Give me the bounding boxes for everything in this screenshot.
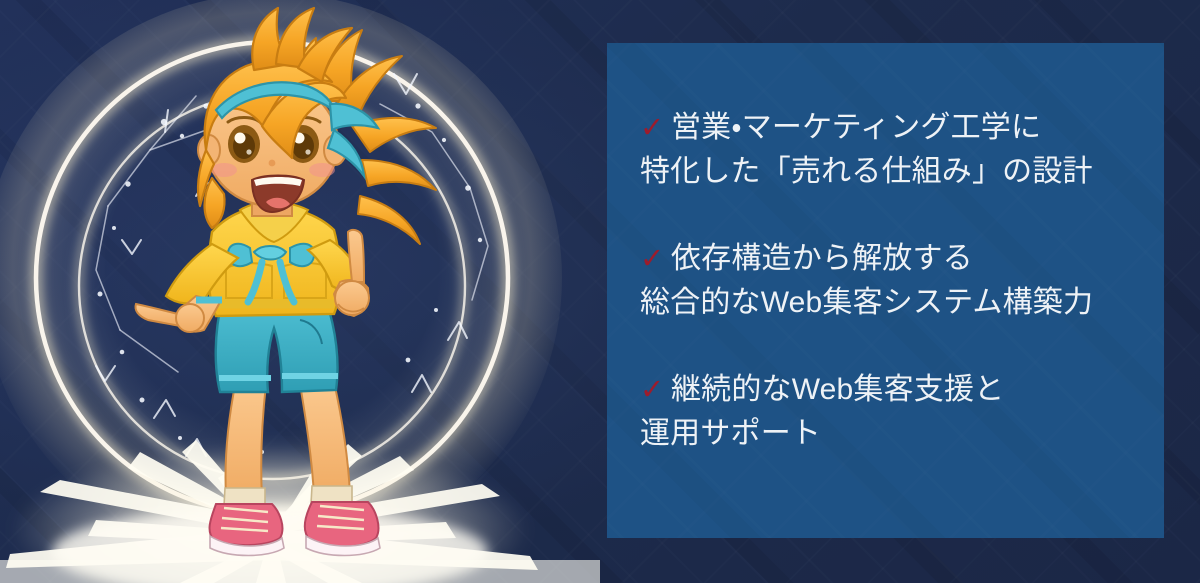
slide-root: ✓営業・マーケティング工学に 特化した「売れる仕組み」の設計 ✓依存構造から解放…	[0, 0, 1200, 583]
benefit-2-line-2: 総合的なWeb集客システム構築力	[640, 281, 1164, 325]
check-icon: ✓	[640, 114, 667, 143]
benefits-panel: ✓営業・マーケティング工学に 特化した「売れる仕組み」の設計 ✓依存構造から解放…	[607, 43, 1164, 538]
benefit-3-line-1: ✓継続的なWeb集客支援と	[640, 368, 1164, 412]
character-illustration-svg	[0, 0, 600, 583]
benefit-1-line-2: 特化した「売れる仕組み」の設計	[640, 150, 1164, 194]
benefit-2-text-1: 依存構造から解放する	[671, 242, 973, 275]
benefit-item-2: ✓依存構造から解放する 総合的なWeb集客システム構築力	[640, 237, 1164, 325]
benefit-1-line-1: ✓営業・マーケティング工学に	[640, 106, 1164, 150]
check-icon: ✓	[640, 376, 667, 405]
benefits-list: ✓営業・マーケティング工学に 特化した「売れる仕組み」の設計 ✓依存構造から解放…	[607, 43, 1164, 457]
character-illustration	[0, 0, 600, 583]
benefit-1-text-1: 営業・マーケティング工学に	[671, 111, 1041, 144]
benefit-3-line-2: 運用サポート	[640, 412, 1164, 456]
check-icon: ✓	[640, 245, 667, 274]
benefit-2-line-1: ✓依存構造から解放する	[640, 237, 1164, 281]
benefit-item-1: ✓営業・マーケティング工学に 特化した「売れる仕組み」の設計	[640, 106, 1164, 194]
benefit-item-3: ✓継続的なWeb集客支援と 運用サポート	[640, 368, 1164, 456]
benefit-3-text-1: 継続的なWeb集客支援と	[671, 373, 1004, 406]
